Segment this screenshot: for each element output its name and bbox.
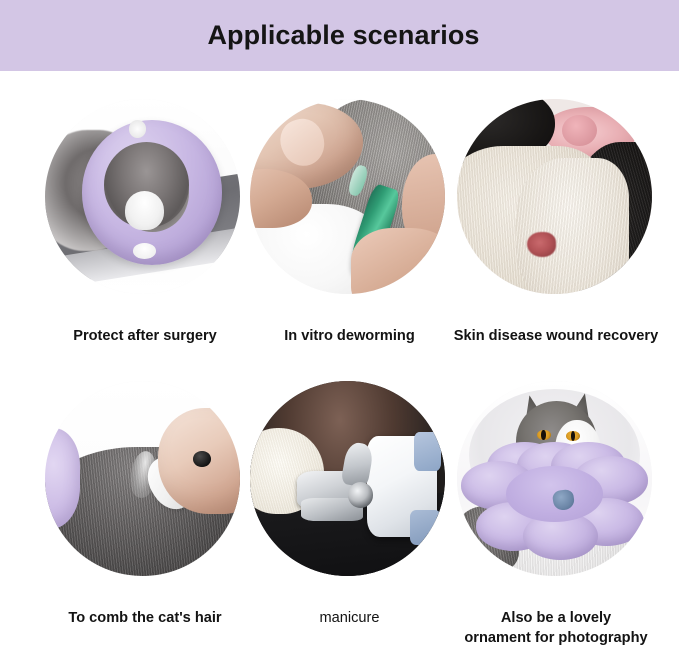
- scenario-caption: Also be a lovelyornament for photography: [441, 609, 671, 645]
- scenario-card-manicure: manicure: [242, 381, 457, 576]
- scenario-card-skin-disease-wound-recovery: Skin disease wound recovery: [449, 99, 664, 294]
- scenario-image-wrap: [45, 381, 240, 576]
- scenario-image-in-vitro-deworming: [250, 99, 445, 294]
- scenario-row-2: To comb the cat's hair: [0, 381, 679, 645]
- scenario-image-wrap: [457, 381, 652, 576]
- scenario-card-to-comb-the-cats-hair: To comb the cat's hair: [35, 381, 250, 576]
- scenario-image-wrap: [457, 99, 652, 294]
- scenario-caption: Protect after surgery: [30, 327, 260, 346]
- product-scenarios-infographic: Applicable scenarios: [0, 0, 679, 645]
- scenario-caption-line-2: ornament for photography: [464, 630, 647, 645]
- scenario-image-wrap: [250, 99, 445, 294]
- scenario-image-to-comb-the-cats-hair: [45, 381, 240, 576]
- scenario-caption: To comb the cat's hair: [30, 609, 260, 628]
- scenario-image-skin-disease-wound-recovery: [457, 99, 652, 294]
- scenario-card-ornament-for-photography: Also be a lovelyornament for photography: [449, 381, 664, 576]
- page-title: Applicable scenarios: [207, 22, 479, 49]
- scenario-caption: manicure: [242, 609, 457, 628]
- scenario-image-ornament-for-photography: [457, 381, 652, 576]
- scenario-caption: Skin disease wound recovery: [441, 327, 671, 346]
- scenario-card-protect-after-surgery: Protect after surgery: [35, 99, 250, 294]
- scenario-card-in-vitro-deworming: In vitro deworming: [242, 99, 457, 294]
- scenario-image-protect-after-surgery: [45, 99, 240, 294]
- scenario-caption: In vitro deworming: [242, 327, 457, 346]
- scenario-row-1: Protect after surgery: [0, 99, 679, 369]
- scenario-grid: Protect after surgery: [0, 71, 679, 645]
- scenario-image-manicure: [250, 381, 445, 576]
- scenario-image-wrap: [250, 381, 445, 576]
- scenario-caption-line-1: Also be a lovely: [501, 610, 611, 626]
- scenario-image-wrap: [45, 99, 240, 294]
- header-band: Applicable scenarios: [0, 0, 679, 71]
